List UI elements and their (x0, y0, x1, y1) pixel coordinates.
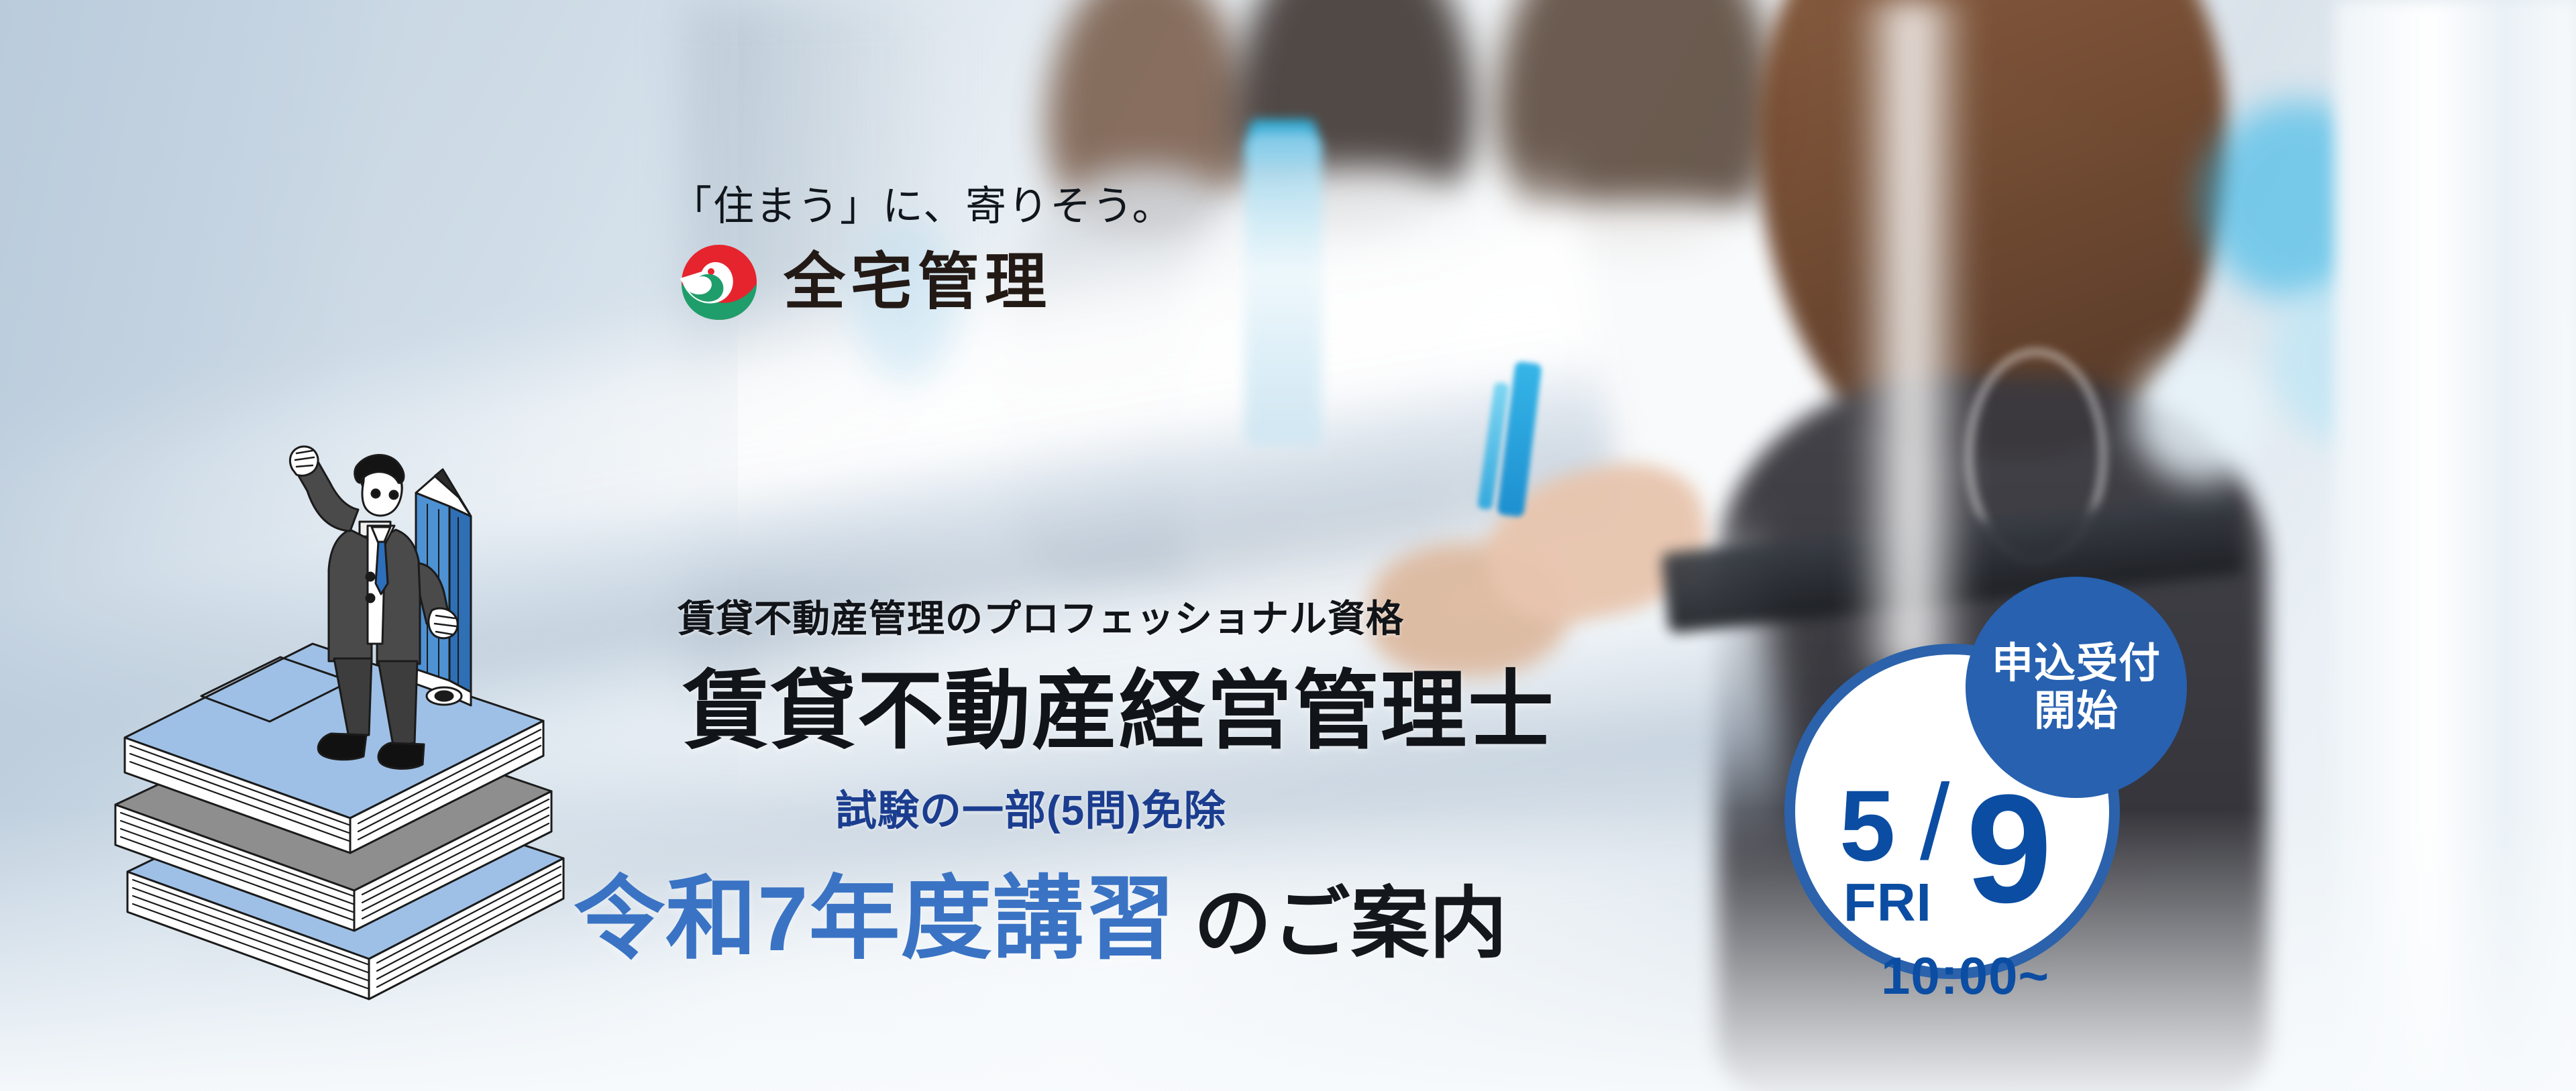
badge-day: 9 (1966, 772, 2052, 926)
page-title: 賃貸不動産経営管理士 (683, 641, 1555, 765)
brand-logo-block: 「住まう」に、寄りそう。 全宅管理 (671, 186, 1175, 323)
badge-month: 5 (1839, 775, 1895, 876)
exemption-note: 試験の一部(5問)免除 (835, 777, 1226, 837)
application-open-badge[interactable]: 申込受付 開始 (1966, 577, 2187, 798)
light-column (1851, 0, 1972, 671)
application-date-badge[interactable]: 5 / 9 FRI 10:00~ 申込受付 開始 (1784, 577, 2200, 992)
apply-label-line2: 開始 (2034, 689, 2118, 733)
course-announcement-row: 令和7年度講習 のご案内 (574, 845, 1508, 977)
badge-separator: / (1920, 768, 1949, 876)
badge-time: 10:00~ (1881, 950, 2049, 1002)
brand-logo-row: 全宅管理 (679, 242, 1175, 323)
businessman-on-books-illustration (101, 443, 584, 1006)
course-announcement-suffix: のご案内 (1194, 860, 1508, 973)
apply-label-line1: 申込受付 (1992, 642, 2161, 685)
promotional-banner: 「住まう」に、寄りそう。 全宅管理 (0, 0, 2576, 1091)
bokeh-highlight-3 (2133, 349, 2267, 483)
brand-name: 全宅管理 (784, 251, 1052, 313)
course-name: 令和7年度講習 (574, 845, 1177, 977)
headline-kicker: 賃貸不動産管理のプロフェッショナル資格 (678, 589, 1404, 643)
brand-tagline: 「住まう」に、寄りそう。 (671, 186, 1175, 227)
badge-weekday: FRI (1843, 876, 1932, 929)
water-bottle (1244, 131, 1322, 446)
dove-logo-icon (679, 242, 759, 323)
